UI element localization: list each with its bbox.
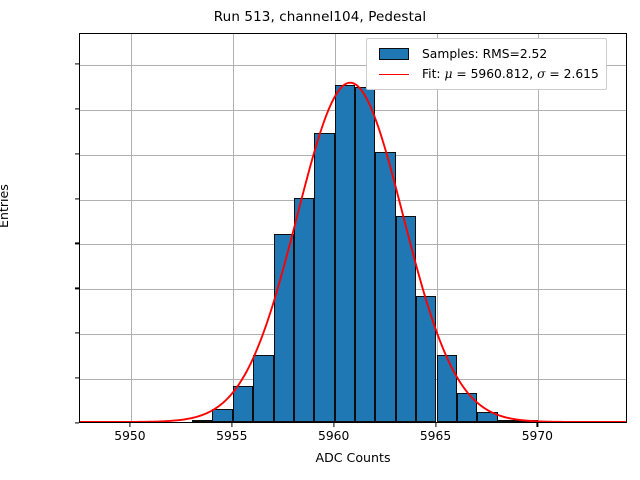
x-tick-mark	[231, 423, 232, 427]
legend-label-fit: Fit: μ = 5960.812, σ = 2.615	[422, 67, 599, 81]
legend-patch-icon	[374, 48, 414, 60]
fit-curve-layer	[80, 34, 626, 422]
page-title: Run 513, channel104, Pedestal	[0, 9, 640, 25]
y-tick-mark	[75, 333, 79, 334]
legend[interactable]: Samples: RMS=2.52 Fit: μ = 5960.812, σ =…	[366, 38, 607, 90]
plot-inner	[80, 34, 626, 422]
x-tick-label: 5955	[216, 429, 247, 443]
x-tick-mark	[435, 423, 436, 427]
y-tick-mark	[75, 288, 79, 289]
y-tick-mark	[75, 153, 79, 154]
figure-canvas: Run 513, channel104, Pedestal Entries AD…	[0, 0, 640, 480]
y-tick-mark	[75, 108, 79, 109]
y-axis-label: Entries	[0, 184, 11, 228]
x-tick-mark	[129, 423, 130, 427]
x-axis-label: ADC Counts	[79, 450, 627, 465]
y-tick-mark	[75, 243, 79, 244]
x-tick-label: 5970	[522, 429, 553, 443]
y-tick-mark	[75, 378, 79, 379]
x-tick-mark	[333, 423, 334, 427]
y-tick-mark	[75, 422, 79, 423]
y-tick-mark	[75, 63, 79, 64]
plot-area	[79, 33, 627, 423]
y-tick-mark	[75, 198, 79, 199]
x-tick-label: 5950	[114, 429, 145, 443]
legend-item-fit[interactable]: Fit: μ = 5960.812, σ = 2.615	[374, 64, 599, 84]
x-tick-mark	[537, 423, 538, 427]
x-tick-label: 5960	[318, 429, 349, 443]
legend-label-samples: Samples: RMS=2.52	[422, 47, 547, 61]
x-tick-label: 5965	[420, 429, 451, 443]
legend-line-icon	[374, 74, 414, 75]
gaussian-fit-curve	[80, 83, 626, 422]
legend-item-samples[interactable]: Samples: RMS=2.52	[374, 44, 599, 64]
